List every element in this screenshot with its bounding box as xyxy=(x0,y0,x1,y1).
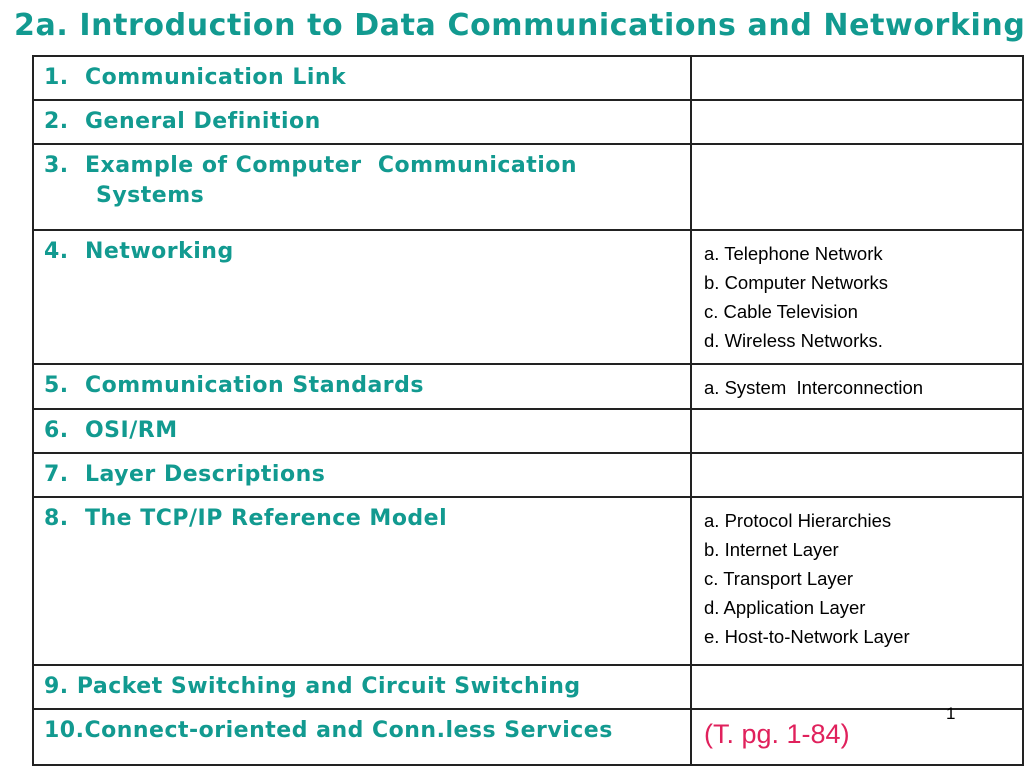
slide-canvas: 2a. Introduction to Data Communications … xyxy=(0,0,1024,768)
toc-topic-cell: 3. Example of Computer CommunicationSyst… xyxy=(33,144,691,230)
toc-topic-cell: 10.Connect-oriented and Conn.less Servic… xyxy=(33,709,691,765)
toc-topic-label: 4. Networking xyxy=(34,231,690,273)
toc-topic-line-1: 3. Example of Computer Communication xyxy=(44,153,577,178)
toc-topic-label: 3. Example of Computer CommunicationSyst… xyxy=(34,145,690,217)
toc-subtopic-cell xyxy=(691,453,1023,497)
table-row: 4. Networking a. Telephone Network b. Co… xyxy=(33,230,1023,364)
toc-topic-cell: 7. Layer Descriptions xyxy=(33,453,691,497)
table-of-contents: 1. Communication Link 2. General Definit… xyxy=(32,55,1024,766)
toc-topic-cell: 9. Packet Switching and Circuit Switchin… xyxy=(33,665,691,709)
table-row: 8. The TCP/IP Reference Model a. Protoco… xyxy=(33,497,1023,665)
toc-topic-label: 7. Layer Descriptions xyxy=(34,454,690,496)
toc-subtopic-item: b. Internet Layer xyxy=(704,535,1022,564)
toc-subtopic-item: d. Wireless Networks. xyxy=(704,326,1022,355)
toc-subtopic-list xyxy=(692,410,1022,424)
toc-subtopic-list xyxy=(692,454,1022,468)
table-row: 6. OSI/RM xyxy=(33,409,1023,453)
toc-subtopic-cell: a. Protocol Hierarchies b. Internet Laye… xyxy=(691,497,1023,665)
toc-topic-line-2: Systems xyxy=(44,181,690,211)
toc-topic-label: 9. Packet Switching and Circuit Switchin… xyxy=(34,666,690,708)
toc-topic-cell: 8. The TCP/IP Reference Model xyxy=(33,497,691,665)
toc-topic-cell: 5. Communication Standards xyxy=(33,364,691,409)
table-row: 10.Connect-oriented and Conn.less Servic… xyxy=(33,709,1023,765)
toc-subtopic-cell xyxy=(691,409,1023,453)
toc-subtopic-cell: a. System Interconnection xyxy=(691,364,1023,409)
toc-subtopic-item: c. Transport Layer xyxy=(704,564,1022,593)
slide-page-number: 1 xyxy=(946,704,955,724)
toc-subtopic-cell xyxy=(691,144,1023,230)
table-row: 2. General Definition xyxy=(33,100,1023,144)
toc-topic-label: 8. The TCP/IP Reference Model xyxy=(34,498,690,540)
toc-topic-cell: 6. OSI/RM xyxy=(33,409,691,453)
toc-subtopic-cell xyxy=(691,56,1023,100)
toc-topic-cell: 2. General Definition xyxy=(33,100,691,144)
toc-subtopic-cell xyxy=(691,665,1023,709)
toc-subtopic-item: b. Computer Networks xyxy=(704,268,1022,297)
table-row: 5. Communication Standards a. System Int… xyxy=(33,364,1023,409)
toc-subtopic-item: a. Protocol Hierarchies xyxy=(704,506,1022,535)
toc-subtopic-item: a. System Interconnection xyxy=(704,373,1022,402)
toc-subtopic-list xyxy=(692,101,1022,115)
toc-subtopic-list: a. Protocol Hierarchies b. Internet Laye… xyxy=(692,498,1022,657)
toc-topic-label: 1. Communication Link xyxy=(34,57,690,99)
page-title: 2a. Introduction to Data Communications … xyxy=(14,6,1014,50)
toc-topic-cell: 4. Networking xyxy=(33,230,691,364)
toc-subtopic-list xyxy=(692,145,1022,159)
table-row: 7. Layer Descriptions xyxy=(33,453,1023,497)
toc-subtopic-item: a. Telephone Network xyxy=(704,239,1022,268)
textbook-page-reference: (T. pg. 1-84) xyxy=(692,710,1022,758)
toc-subtopic-cell: a. Telephone Network b. Computer Network… xyxy=(691,230,1023,364)
toc-subtopic-item: d. Application Layer xyxy=(704,593,1022,622)
toc-topic-cell: 1. Communication Link xyxy=(33,56,691,100)
toc-subtopic-item: e. Host-to-Network Layer xyxy=(704,622,1022,651)
toc-reference-cell: (T. pg. 1-84) xyxy=(691,709,1023,765)
toc-topic-label: 2. General Definition xyxy=(34,101,690,143)
toc-topic-label: 5. Communication Standards xyxy=(34,365,690,407)
toc-subtopic-cell xyxy=(691,100,1023,144)
toc-topic-label: 10.Connect-oriented and Conn.less Servic… xyxy=(34,710,690,752)
toc-subtopic-list: a. System Interconnection xyxy=(692,365,1022,408)
toc-topic-label: 6. OSI/RM xyxy=(34,410,690,452)
toc-subtopic-item: c. Cable Television xyxy=(704,297,1022,326)
table-row: 3. Example of Computer CommunicationSyst… xyxy=(33,144,1023,230)
table-row: 1. Communication Link xyxy=(33,56,1023,100)
table-row: 9. Packet Switching and Circuit Switchin… xyxy=(33,665,1023,709)
toc-subtopic-list xyxy=(692,57,1022,71)
toc-subtopic-list xyxy=(692,666,1022,680)
toc-subtopic-list: a. Telephone Network b. Computer Network… xyxy=(692,231,1022,361)
